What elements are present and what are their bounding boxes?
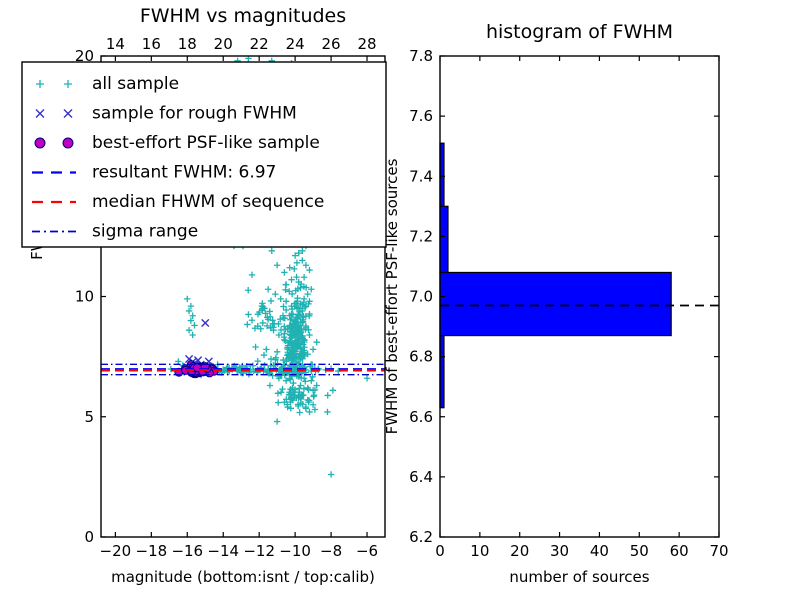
hist-y-tick-label: 7.4 — [409, 167, 433, 185]
plot-svg: −20−18−16−14−12−10−8−6141618202224262805… — [0, 0, 800, 600]
top-x-tick-label: 18 — [178, 35, 197, 53]
legend-frame — [22, 62, 386, 247]
hist-x-tick-label: 50 — [630, 542, 649, 560]
legend-entry-label: sigma range — [92, 222, 198, 242]
left-panel-title: FWHM vs magnitudes — [140, 5, 346, 27]
top-x-tick-label: 24 — [286, 35, 305, 53]
top-x-tick-label: 20 — [214, 35, 233, 53]
top-x-tick-label: 22 — [250, 35, 269, 53]
figure-canvas: −20−18−16−14−12−10−8−6141618202224262805… — [0, 0, 800, 600]
right-x-axis-label: number of sources — [509, 568, 649, 586]
filled-circle-icon — [63, 138, 73, 148]
hist-x-tick-label: 30 — [550, 542, 569, 560]
y-tick-label: 5 — [84, 408, 94, 426]
x-tick-label: −20 — [100, 542, 132, 560]
hist-x-tick-label: 70 — [709, 542, 728, 560]
hist-y-tick-label: 6.6 — [409, 408, 433, 426]
x-tick-label: −18 — [136, 542, 168, 560]
x-tick-label: −12 — [243, 542, 275, 560]
hist-y-tick-label: 6.4 — [409, 468, 433, 486]
top-x-tick-label: 28 — [357, 35, 376, 53]
histogram-bar — [440, 272, 671, 335]
y-tick-label: 0 — [84, 528, 94, 546]
top-x-tick-label: 26 — [322, 35, 341, 53]
y-tick-label: 10 — [75, 288, 94, 306]
legend-entry-label: best-effort PSF-like sample — [92, 133, 320, 153]
left-x-axis-label: magnitude (bottom:isnt / top:calib) — [111, 568, 375, 586]
right-panel-title: histogram of FWHM — [486, 21, 673, 43]
legend-entry-label: sample for rough FWHM — [92, 104, 297, 124]
filled-circle-icon — [35, 138, 45, 148]
histogram-bar — [440, 206, 448, 272]
hist-y-tick-label: 7.2 — [409, 227, 433, 245]
legend-entry-label: resultant FWHM: 6.97 — [92, 163, 276, 183]
x-tick-label: −8 — [320, 542, 342, 560]
x-tick-label: −14 — [207, 542, 239, 560]
legend-entry-label: median FHWM of sequence — [92, 192, 324, 212]
legend-entry-label: all sample — [92, 74, 179, 94]
legend-box: all samplesample for rough FWHMbest-effo… — [22, 62, 386, 247]
hist-x-tick-label: 10 — [470, 542, 489, 560]
x-tick-label: −6 — [356, 542, 378, 560]
right-panel-histogram: 0102030405060706.26.46.66.87.07.27.47.67… — [383, 21, 729, 586]
hist-y-tick-label: 6.8 — [409, 348, 433, 366]
x-tick-label: −10 — [279, 542, 311, 560]
hist-y-tick-label: 6.2 — [409, 528, 433, 546]
hist-x-tick-label: 20 — [510, 542, 529, 560]
hist-x-tick-label: 0 — [435, 542, 445, 560]
hist-y-tick-label: 7.8 — [409, 47, 433, 65]
hist-x-tick-label: 40 — [590, 542, 609, 560]
top-x-tick-label: 16 — [142, 35, 161, 53]
top-x-tick-label: 14 — [106, 35, 125, 53]
x-tick-label: −16 — [171, 542, 203, 560]
hist-y-tick-label: 7.6 — [409, 107, 433, 125]
hist-y-tick-label: 7.0 — [409, 288, 433, 306]
hist-x-tick-label: 60 — [670, 542, 689, 560]
